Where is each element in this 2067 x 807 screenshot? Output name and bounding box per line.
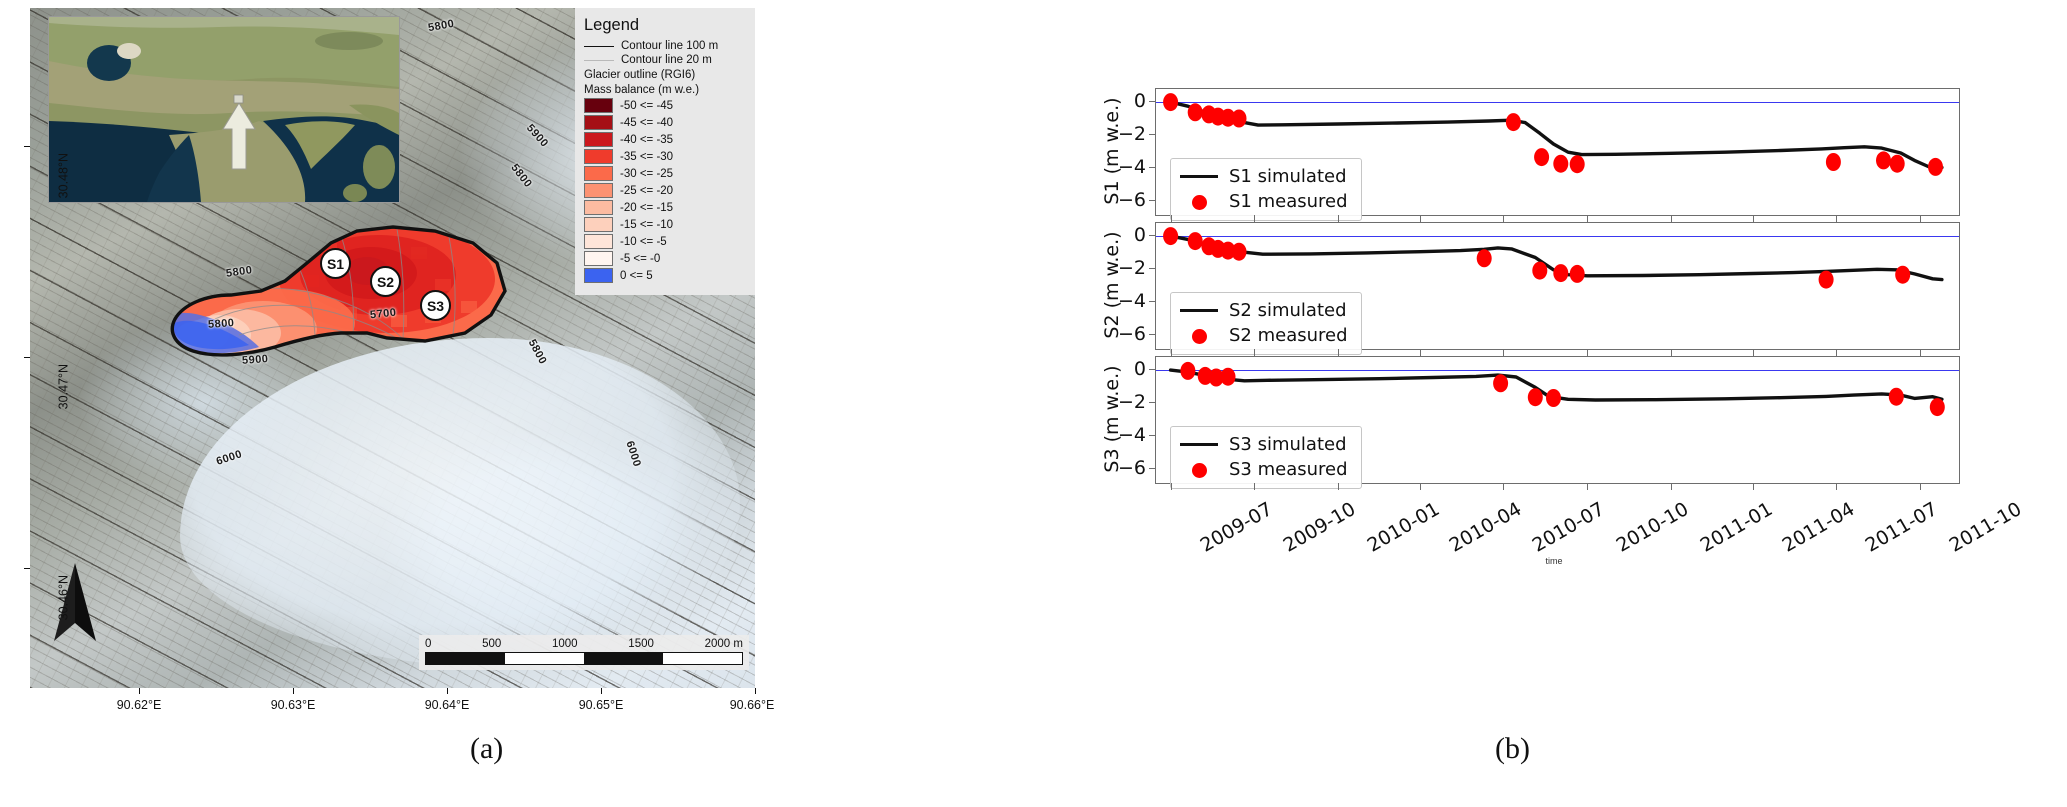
x-tick-mark xyxy=(1420,349,1421,356)
legend-label-simulated: S1 simulated xyxy=(1229,164,1347,190)
inset-overview-map xyxy=(48,16,400,203)
measured-point xyxy=(1493,374,1508,392)
x-tick-mark xyxy=(1587,349,1588,356)
x-axis-tick-label: 2011-10 xyxy=(1946,498,2026,557)
legend-class-row: -45 <= -40 xyxy=(584,115,746,130)
y-axis-tick-label: 30.47°N xyxy=(56,364,70,409)
x-tick-mark xyxy=(139,688,140,694)
legend-class-row: -20 <= -15 xyxy=(584,200,746,215)
x-tick-mark xyxy=(293,688,294,694)
legend-class-row: -30 <= -25 xyxy=(584,166,746,181)
legend-class-row: -35 <= -30 xyxy=(584,149,746,164)
legend-class-row: -5 <= -0 xyxy=(584,251,746,266)
x-tick-mark xyxy=(1171,349,1172,356)
x-tick-mark xyxy=(1503,349,1504,356)
x-tick-mark xyxy=(1836,215,1837,222)
x-tick-mark xyxy=(1920,215,1921,222)
station-marker-s2[interactable]: S2 xyxy=(370,266,401,297)
legend-class-label: -10 <= -5 xyxy=(620,236,667,248)
legend-label-measured: S2 measured xyxy=(1229,323,1348,349)
x-axis-tick-label: 2010-01 xyxy=(1364,498,1444,557)
legend-label-measured: S1 measured xyxy=(1229,189,1348,215)
x-tick-mark xyxy=(1753,483,1754,490)
x-axis-tick-label: 2009-10 xyxy=(1280,498,1360,557)
legend-class-row: -15 <= -10 xyxy=(584,217,746,232)
legend-class-label: -25 <= -20 xyxy=(620,185,673,197)
legend-class-label: -20 <= -15 xyxy=(620,202,673,214)
x-tick-mark xyxy=(1920,483,1921,490)
x-tick-mark xyxy=(755,688,756,694)
legend-label: Contour line 100 m xyxy=(621,40,718,52)
y-tick-mark xyxy=(1149,369,1155,370)
dot-swatch-icon xyxy=(1192,329,1207,344)
x-tick-mark xyxy=(1671,483,1672,490)
x-tick-mark xyxy=(1836,349,1837,356)
y-tick-mark xyxy=(24,568,30,569)
x-tick-mark xyxy=(1671,349,1672,356)
x-tick-mark xyxy=(447,688,448,694)
chart-legend-s2: S2 simulatedS2 measured xyxy=(1170,292,1362,355)
legend-class-label: -50 <= -45 xyxy=(620,100,673,112)
measured-point xyxy=(1188,232,1203,250)
legend-entry-measured: S3 measured xyxy=(1180,457,1348,483)
measured-point xyxy=(1553,264,1568,282)
y-tick-mark xyxy=(1149,301,1155,302)
legend-class-list: -50 <= -45-45 <= -40-40 <= -35-35 <= -30… xyxy=(584,98,746,283)
station-marker-s3[interactable]: S3 xyxy=(420,290,451,321)
x-tick-mark xyxy=(1920,349,1921,356)
x-tick-mark xyxy=(1503,483,1504,490)
x-axis-tick-label: 90.62°E xyxy=(117,698,162,712)
subfigure-caption-a: (a) xyxy=(470,732,503,766)
chart-axes-s3: S3 simulatedS3 measured xyxy=(1155,356,1960,484)
measured-point xyxy=(1890,155,1905,173)
y-axis-title: S1 (m w.e.) xyxy=(1101,76,1123,226)
legend-color-swatch xyxy=(584,149,613,164)
chart-legend-s1: S1 simulatedS1 measured xyxy=(1170,158,1362,221)
measured-point xyxy=(1232,110,1247,128)
y-tick-mark xyxy=(1149,101,1155,102)
glacier-polygon xyxy=(135,183,565,413)
x-tick-mark xyxy=(1420,215,1421,222)
legend-entry-simulated: S1 simulated xyxy=(1180,164,1348,190)
legend-entry-measured: S1 measured xyxy=(1180,189,1348,215)
measured-point xyxy=(1876,151,1891,169)
x-tick-mark xyxy=(1587,215,1588,222)
measured-point xyxy=(1826,153,1841,171)
legend-color-swatch xyxy=(584,217,613,232)
y-tick-mark xyxy=(1149,200,1155,201)
y-tick-mark xyxy=(1149,402,1155,403)
legend-class-row: 0 <= 5 xyxy=(584,268,746,283)
measured-point xyxy=(1163,93,1178,111)
scale-tick: 500 xyxy=(482,638,501,650)
contour-20-line-icon xyxy=(584,60,614,61)
legend-color-swatch xyxy=(584,98,613,113)
map-figure: S1 S2 S3 5800 5900 5800 5800 5800 5700 5… xyxy=(30,8,755,688)
x-tick-mark xyxy=(1254,483,1255,490)
measured-point xyxy=(1232,243,1247,261)
line-swatch-icon xyxy=(1180,443,1218,446)
legend-class-row: -25 <= -20 xyxy=(584,183,746,198)
x-tick-mark xyxy=(1753,215,1754,222)
legend-glacier-outline-label: Glacier outline (RGI6) xyxy=(584,69,746,81)
panel-b-charts: S1 simulatedS1 measured0−2−4−6S1 (m w.e.… xyxy=(1010,0,2067,807)
x-axis-tick-label: 2010-10 xyxy=(1613,498,1693,557)
measured-point xyxy=(1889,388,1904,406)
x-tick-mark xyxy=(1503,215,1504,222)
measured-point xyxy=(1534,148,1549,166)
x-axis-tick-label: 90.66°E xyxy=(730,698,775,712)
scale-tick: 2000 m xyxy=(705,638,743,650)
scale-tick: 0 xyxy=(425,638,431,650)
legend-color-swatch xyxy=(584,200,613,215)
station-marker-s1[interactable]: S1 xyxy=(320,248,351,279)
legend-class-row: -10 <= -5 xyxy=(584,234,746,249)
x-axis-title: time xyxy=(1546,556,1563,566)
contour-label: 5900 xyxy=(242,353,269,367)
x-axis-tick-label: 2011-01 xyxy=(1697,498,1777,557)
chart-panel-s1: S1 simulatedS1 measured0−2−4−6S1 (m w.e.… xyxy=(1155,88,1960,216)
legend-class-row: -50 <= -45 xyxy=(584,98,746,113)
legend-row-contour-20: Contour line 20 m xyxy=(584,54,746,66)
chart-legend-s3: S3 simulatedS3 measured xyxy=(1170,426,1362,489)
dot-swatch-icon xyxy=(1192,463,1207,478)
dot-swatch-icon xyxy=(1192,195,1207,210)
map-canvas: S1 S2 S3 5800 5900 5800 5800 5800 5700 5… xyxy=(30,8,755,688)
x-axis-tick-label: 90.63°E xyxy=(271,698,316,712)
scale-band xyxy=(426,653,505,664)
x-tick-mark xyxy=(1338,215,1339,222)
x-tick-mark xyxy=(1671,215,1672,222)
x-axis-tick-label: 90.64°E xyxy=(425,698,470,712)
y-tick-mark xyxy=(1149,435,1155,436)
y-tick-mark xyxy=(1149,334,1155,335)
legend-color-swatch xyxy=(584,166,613,181)
legend-class-row: -40 <= -35 xyxy=(584,132,746,147)
y-axis-title: S2 (m w.e.) xyxy=(1101,210,1123,360)
y-tick-mark xyxy=(24,146,30,147)
measured-point xyxy=(1570,155,1585,173)
x-tick-mark xyxy=(1836,483,1837,490)
measured-point xyxy=(1528,388,1543,406)
legend-color-swatch xyxy=(584,251,613,266)
measured-point xyxy=(1180,362,1195,380)
legend-color-swatch xyxy=(584,183,613,198)
scale-tick: 1000 xyxy=(552,638,578,650)
legend-class-label: -40 <= -35 xyxy=(620,134,673,146)
y-axis-tick-label: 30.48°N xyxy=(56,153,70,198)
y-axis-title: S3 (m w.e.) xyxy=(1101,344,1123,494)
legend-mass-balance-header: Mass balance (m w.e.) xyxy=(584,84,746,96)
chart-panel-s2: S2 simulatedS2 measured0−2−4−6S2 (m w.e.… xyxy=(1155,222,1960,350)
contour-100-line-icon xyxy=(584,46,614,47)
x-axis-tick-label: 2011-04 xyxy=(1779,498,1859,557)
y-tick-mark xyxy=(1149,235,1155,236)
y-tick-mark xyxy=(1149,167,1155,168)
legend-class-label: -30 <= -25 xyxy=(620,168,673,180)
panel-a-map: S1 S2 S3 5800 5900 5800 5800 5800 5700 5… xyxy=(0,0,1010,807)
x-tick-mark xyxy=(1587,483,1588,490)
x-tick-mark xyxy=(1338,349,1339,356)
line-swatch-icon xyxy=(1180,309,1218,312)
scale-tick: 1500 xyxy=(628,638,654,650)
y-tick-mark xyxy=(1149,268,1155,269)
x-tick-mark xyxy=(1254,349,1255,356)
legend-title: Legend xyxy=(584,16,746,35)
measured-point xyxy=(1553,155,1568,173)
measured-point xyxy=(1532,262,1547,280)
x-tick-mark xyxy=(1254,215,1255,222)
legend-color-swatch xyxy=(584,115,613,130)
measured-point xyxy=(1506,113,1521,131)
legend-color-swatch xyxy=(584,234,613,249)
measured-point xyxy=(1163,227,1178,245)
y-tick-mark xyxy=(1149,134,1155,135)
legend-color-swatch xyxy=(584,268,613,283)
x-tick-mark xyxy=(601,688,602,694)
legend-color-swatch xyxy=(584,132,613,147)
legend-label-measured: S3 measured xyxy=(1229,457,1348,483)
legend-label: Contour line 20 m xyxy=(621,54,712,66)
x-tick-mark xyxy=(1420,483,1421,490)
scale-band xyxy=(584,653,663,664)
legend-entry-simulated: S2 simulated xyxy=(1180,298,1348,324)
measured-point xyxy=(1477,249,1492,267)
legend-entry-simulated: S3 simulated xyxy=(1180,432,1348,458)
line-swatch-icon xyxy=(1180,175,1218,178)
legend-class-label: -15 <= -10 xyxy=(620,219,673,231)
legend-row-contour-100: Contour line 100 m xyxy=(584,40,746,52)
legend-class-label: -5 <= -0 xyxy=(620,253,660,265)
chart-axes-s1: S1 simulatedS1 measured xyxy=(1155,88,1960,216)
legend-class-label: -45 <= -40 xyxy=(620,117,673,129)
chart-panel-s3: S3 simulatedS3 measured0−2−4−6S3 (m w.e.… xyxy=(1155,356,1960,484)
x-axis-tick-label: 2009-07 xyxy=(1196,498,1276,557)
subfigure-caption-b: (b) xyxy=(1495,732,1530,766)
measured-point xyxy=(1930,398,1945,416)
map-legend: Legend Contour line 100 m Contour line 2… xyxy=(575,8,755,295)
x-tick-mark xyxy=(1171,483,1172,490)
measured-point xyxy=(1819,271,1834,289)
contour-label: 5800 xyxy=(208,317,235,331)
x-axis-tick-label: 2010-07 xyxy=(1529,498,1609,557)
legend-class-label: 0 <= 5 xyxy=(620,270,653,282)
legend-label-simulated: S3 simulated xyxy=(1229,432,1347,458)
measured-point xyxy=(1221,368,1236,386)
y-tick-mark xyxy=(24,357,30,358)
scale-band xyxy=(663,653,742,664)
measured-point xyxy=(1188,103,1203,121)
legend-label-simulated: S2 simulated xyxy=(1229,298,1347,324)
scale-band xyxy=(505,653,584,664)
measured-point xyxy=(1546,389,1561,407)
x-tick-mark xyxy=(1753,349,1754,356)
legend-class-label: -35 <= -30 xyxy=(620,151,673,163)
y-axis-tick-label: 30.46°N xyxy=(56,575,70,620)
scale-bar: 0 500 1000 1500 2000 m xyxy=(419,635,749,670)
measured-point xyxy=(1928,158,1943,176)
legend-entry-measured: S2 measured xyxy=(1180,323,1348,349)
x-tick-mark xyxy=(1338,483,1339,490)
chart-axes-s2: S2 simulatedS2 measured xyxy=(1155,222,1960,350)
x-axis-tick-label: 2011-07 xyxy=(1862,498,1942,557)
y-tick-mark xyxy=(1149,468,1155,469)
measured-point xyxy=(1570,265,1585,283)
x-axis-tick-label: 90.65°E xyxy=(579,698,624,712)
x-tick-mark xyxy=(1171,215,1172,222)
x-axis-tick-label: 2010-04 xyxy=(1446,498,1526,557)
measured-point xyxy=(1895,266,1910,284)
